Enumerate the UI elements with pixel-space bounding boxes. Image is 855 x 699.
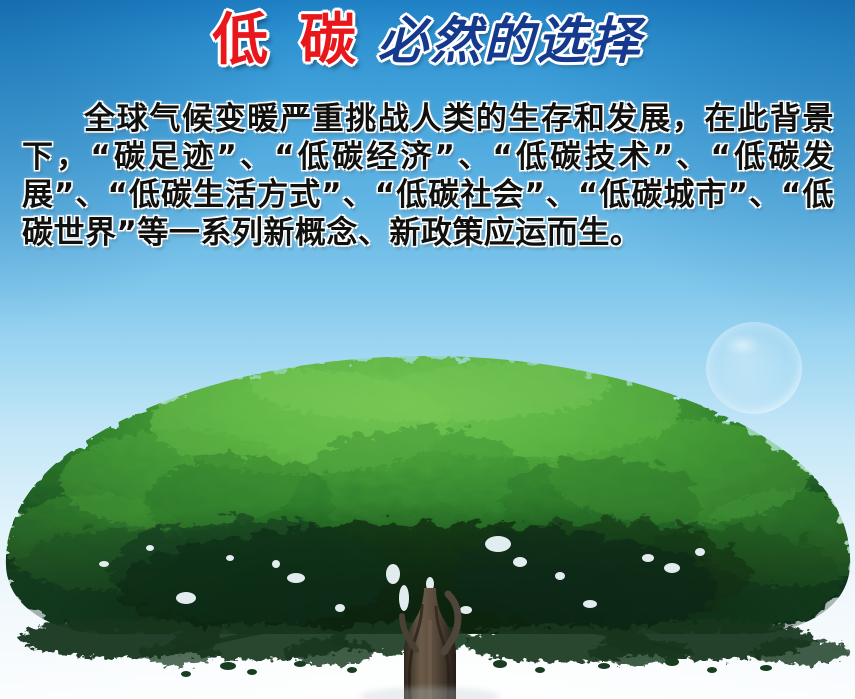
tree-illustration	[0, 352, 855, 699]
body-paragraph: 全球气候变暖严重挑战人类的生存和发展，在此背景下，“碳足迹”、“低碳经济”、“低…	[22, 100, 834, 252]
ground-shadow	[360, 687, 500, 699]
stray-leaves	[181, 658, 772, 677]
tree-svg	[0, 352, 855, 699]
title-sub-text: 必然的选择	[378, 11, 643, 71]
poster-title: 低 碳 必然的选择	[0, 8, 855, 74]
title-main-text: 低 碳	[212, 11, 362, 71]
poster-body-text: 全球气候变暖严重挑战人类的生存和发展，在此背景下，“碳足迹”、“低碳经济”、“低…	[22, 100, 834, 252]
poster-canvas: 低 碳 必然的选择 全球气候变暖严重挑战人类的生存和发展，在此背景下，“碳足迹”…	[0, 0, 855, 699]
